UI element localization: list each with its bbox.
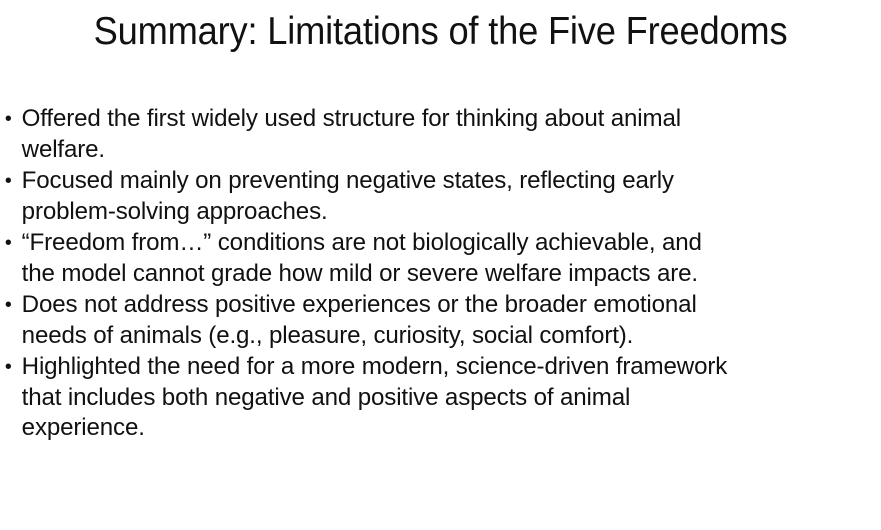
bullet-point-icon: • [5, 104, 19, 135]
list-item: • Highlighted the need for a more modern… [0, 352, 868, 444]
presentation-slide: Summary: Limitations of the Five Freedom… [0, 0, 881, 530]
list-item: • Focused mainly on preventing negative … [0, 166, 868, 227]
bullet-point-icon: • [5, 228, 19, 259]
page-title: Summary: Limitations of the Five Freedom… [31, 8, 850, 56]
list-item: • Does not address positive experiences … [0, 290, 868, 351]
list-item-text: Highlighted the need for a more modern, … [22, 352, 868, 444]
list-item: • Offered the first widely used structur… [0, 104, 868, 165]
list-item: • “Freedom from…” conditions are not bio… [0, 228, 868, 289]
list-item-text: Focused mainly on preventing negative st… [22, 166, 868, 227]
list-item-text: Offered the first widely used structure … [22, 104, 868, 165]
bullet-point-icon: • [5, 352, 19, 383]
bullet-list: • Offered the first widely used structur… [0, 104, 881, 445]
bullet-point-icon: • [5, 166, 19, 197]
bullet-point-icon: • [5, 290, 19, 321]
list-item-text: “Freedom from…” conditions are not biolo… [22, 228, 868, 289]
list-item-text: Does not address positive experiences or… [22, 290, 868, 351]
